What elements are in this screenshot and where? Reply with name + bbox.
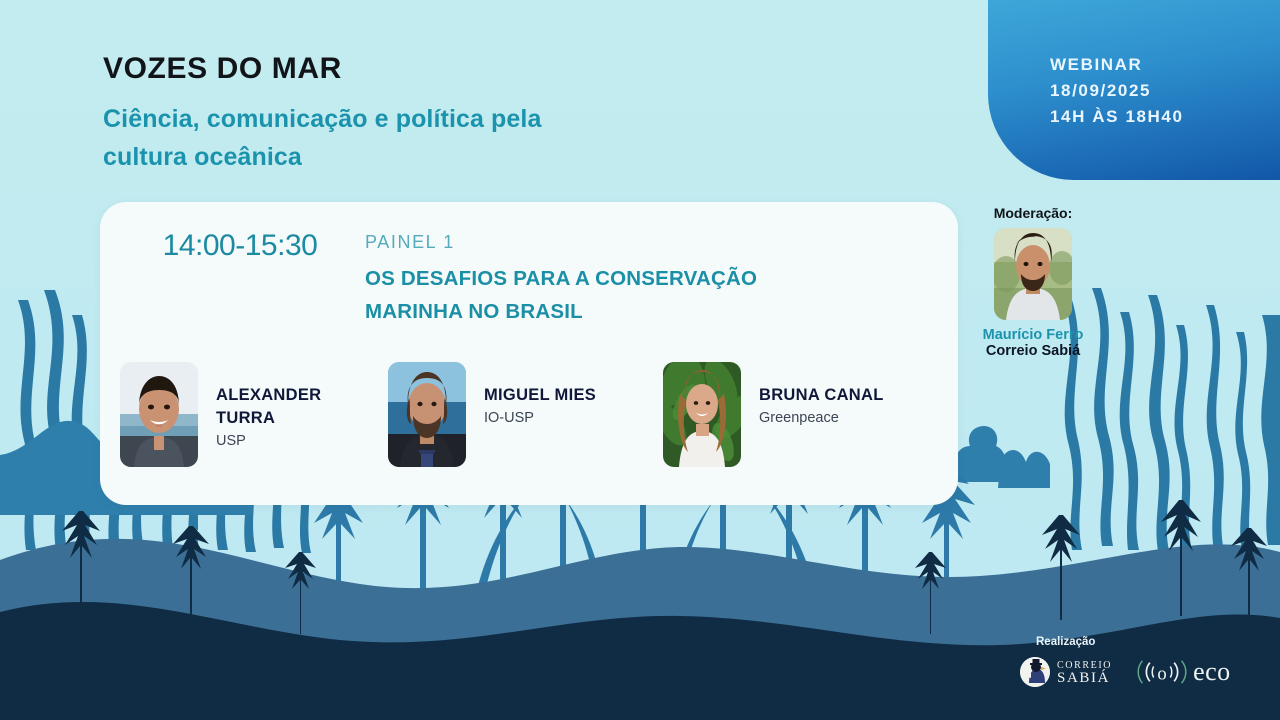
eco-wordmark: eco	[1193, 657, 1231, 687]
panel-time: 14:00-15:30	[120, 229, 360, 263]
portrait-mauricio-ferro	[994, 228, 1072, 320]
speaker-card: BRUNA CANAL Greenpeace	[663, 362, 884, 467]
speaker-name: ALEXANDER TURRA	[216, 384, 321, 430]
page-title: VOZES DO MAR	[103, 52, 541, 86]
page-subtitle-line2: cultura oceânica	[103, 138, 541, 176]
sabia-bird-icon	[1020, 657, 1050, 687]
speaker-name: BRUNA CANAL	[759, 384, 884, 407]
speaker-text: BRUNA CANAL Greenpeace	[759, 362, 884, 426]
moderator-name: Maurício Ferro	[963, 327, 1103, 343]
sabia-wordmark: CORREIO SABIÁ	[1057, 659, 1112, 685]
panel-card: 14:00-15:30 PAINEL 1 OS DESAFIOS PARA A …	[100, 202, 958, 505]
page-subtitle-line1: Ciência, comunicação e política pela	[103, 100, 541, 138]
webinar-badge: WEBINAR 18/09/2025 14H ÀS 18H40	[988, 0, 1280, 180]
eco-signal-icon: o	[1134, 656, 1190, 688]
sabia-line2: SABIÁ	[1057, 672, 1112, 685]
o-eco-logo: o eco	[1134, 656, 1231, 688]
speaker-card: MIGUEL MIES IO-USP	[388, 362, 596, 467]
panel-title-line1: OS DESAFIOS PARA A CONSERVAÇÃO	[365, 262, 925, 295]
speaker-name-line1: ALEXANDER	[216, 384, 321, 407]
portrait-miguel-mies	[388, 362, 466, 467]
speaker-org: USP	[216, 433, 321, 449]
speaker-text: ALEXANDER TURRA USP	[216, 362, 321, 449]
webinar-time: 14H ÀS 18H40	[1050, 104, 1280, 130]
logo-row: CORREIO SABIÁ o	[1020, 656, 1270, 688]
header-block: VOZES DO MAR Ciência, comunicação e polí…	[103, 52, 541, 176]
moderator-org: Correio Sabiá	[963, 343, 1103, 359]
svg-text:o: o	[1157, 663, 1166, 684]
correio-sabia-logo: CORREIO SABIÁ	[1020, 657, 1112, 687]
realizacao-label: Realização	[1036, 636, 1270, 648]
speaker-list: ALEXANDER TURRA USP	[100, 362, 958, 492]
panel-kicker: PAINEL 1	[365, 232, 455, 253]
speaker-card: ALEXANDER TURRA USP	[120, 362, 321, 467]
moderator-block: Moderação: Maurício Ferr	[963, 205, 1103, 359]
speaker-org: Greenpeace	[759, 410, 884, 426]
speaker-name-line2: TURRA	[216, 407, 321, 430]
portrait-bruna-canal	[663, 362, 741, 467]
portrait-alexander-turra	[120, 362, 198, 467]
webinar-date: 18/09/2025	[1050, 78, 1280, 104]
webinar-label: WEBINAR	[1050, 52, 1280, 78]
speaker-text: MIGUEL MIES IO-USP	[484, 362, 596, 426]
speaker-name: MIGUEL MIES	[484, 384, 596, 407]
poster-stage: WEBINAR 18/09/2025 14H ÀS 18H40 VOZES DO…	[0, 0, 1280, 720]
panel-title-line2: MARINHA NO BRASIL	[365, 295, 925, 328]
moderator-label: Moderação:	[963, 205, 1103, 221]
page-subtitle: Ciência, comunicação e política pela cul…	[103, 100, 541, 176]
panel-title: OS DESAFIOS PARA A CONSERVAÇÃO MARINHA N…	[365, 262, 925, 328]
footer-block: Realização CORREIO SABIÁ	[1020, 636, 1270, 688]
speaker-org: IO-USP	[484, 410, 596, 426]
